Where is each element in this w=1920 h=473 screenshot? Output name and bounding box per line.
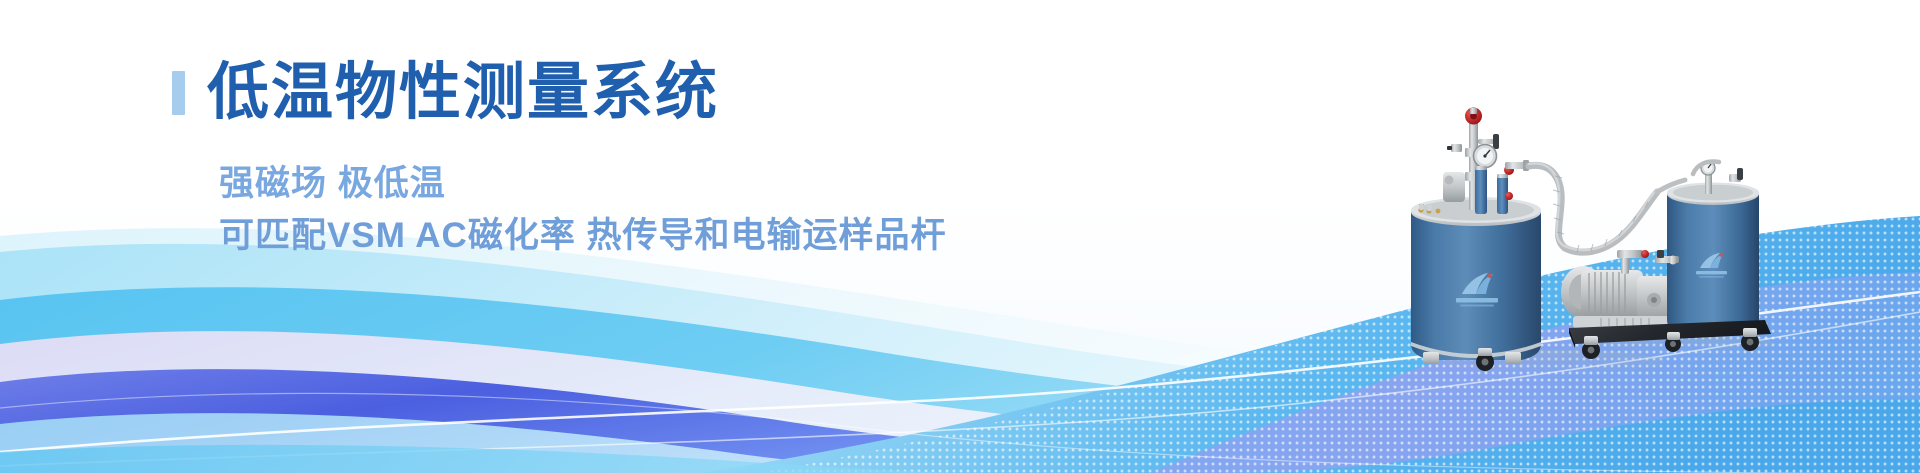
sample-rod	[1475, 168, 1487, 214]
page-title: 低温物性测量系统	[207, 62, 719, 124]
flex-hose	[1529, 165, 1657, 252]
pressure-gauge	[1474, 145, 1497, 168]
cryostat-system-photo	[1405, 44, 1775, 374]
product-banner: 低温物性测量系统 强磁场 极低温 可匹配VSM AC磁化率 热传导和电输运样品杆	[0, 0, 1920, 473]
banner-title-row: 低温物性测量系统	[172, 56, 1318, 130]
banner-copy: 低温物性测量系统 强磁场 极低温 可匹配VSM AC磁化率 热传导和电输运样品杆	[218, 56, 1318, 256]
title-accent-bar	[172, 71, 185, 115]
banner-subtitle-line-1: 强磁场 极低温	[219, 164, 1318, 204]
banner-subtitle-line-2: 可匹配VSM AC磁化率 热传导和电输运样品杆	[219, 216, 1318, 256]
